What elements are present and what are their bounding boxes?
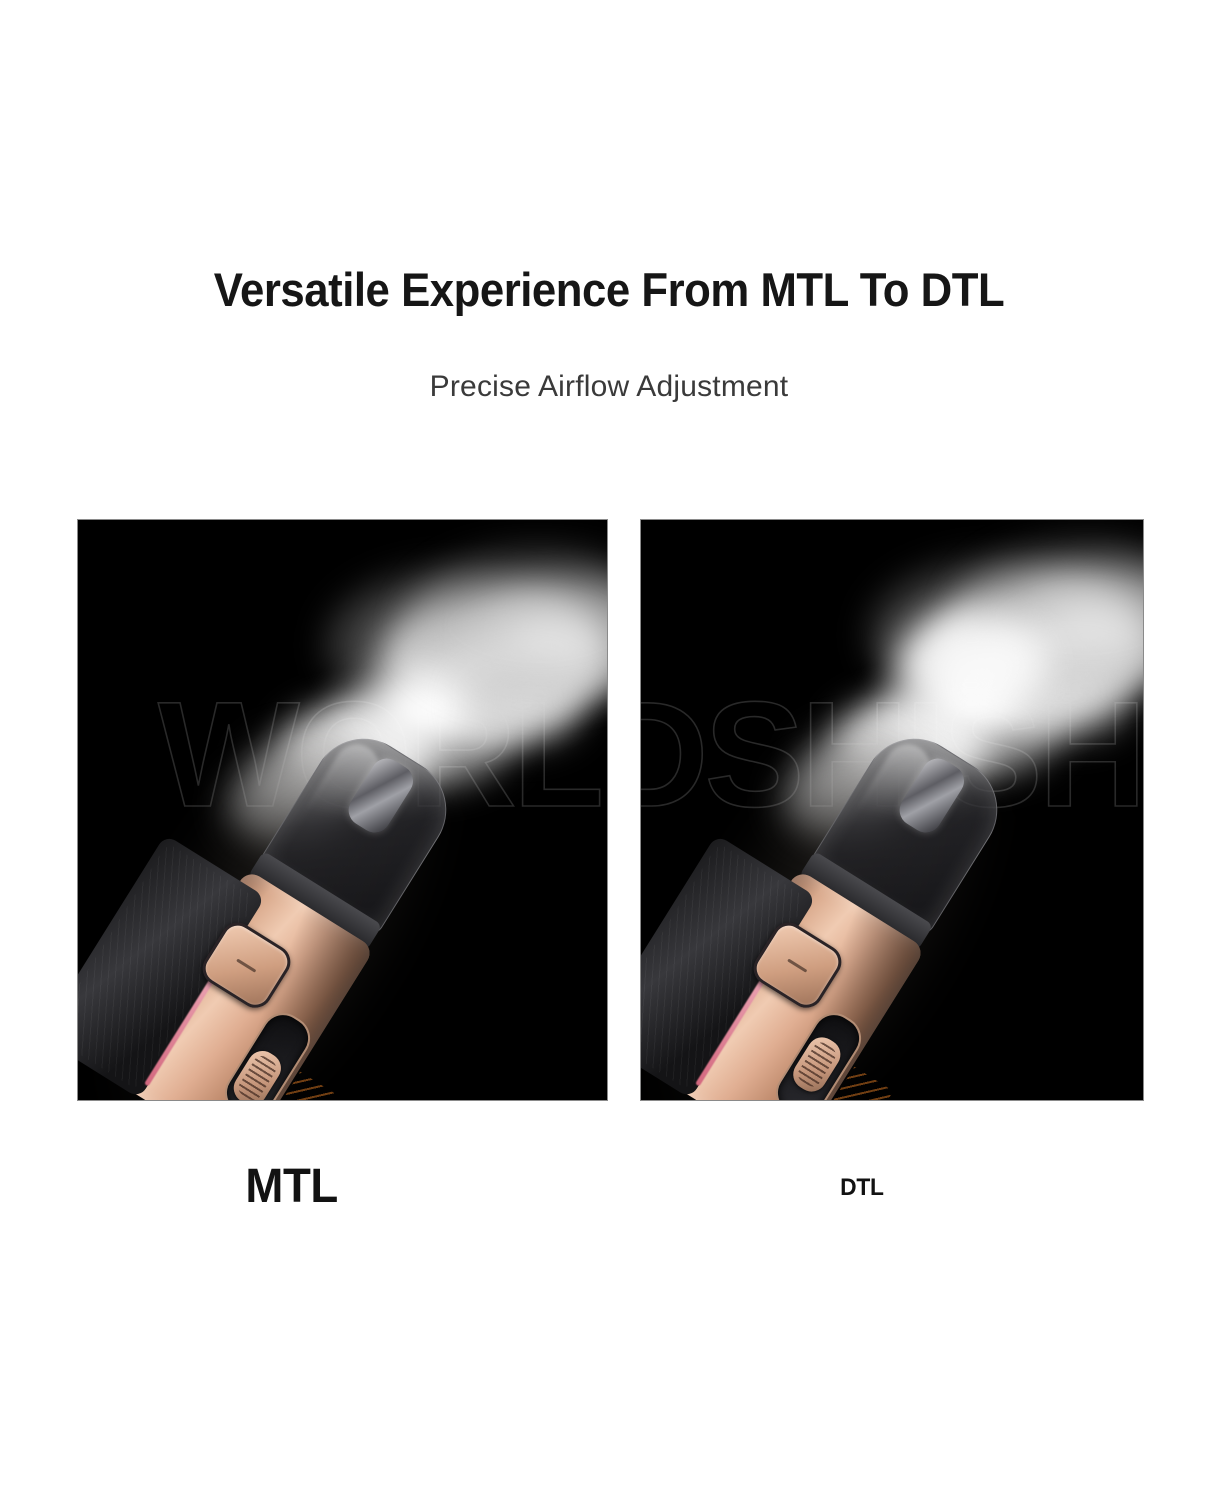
caption-mtl: MTL [245, 1159, 337, 1214]
page-subtitle: Precise Airflow Adjustment [0, 370, 1218, 404]
page-title: Versatile Experience From MTL To DTL [43, 262, 1176, 317]
vape-device-dtl [641, 691, 1143, 1100]
product-image-mtl: WORLDSHISHAS [78, 520, 607, 1100]
mtl-scene: WORLDSHISHAS [78, 520, 607, 1100]
caption-dtl: DTL [840, 1174, 883, 1202]
product-image-dtl: WORLDSHISHAS [641, 520, 1143, 1100]
dtl-scene: WORLDSHISHAS [641, 520, 1143, 1100]
vape-device-mtl [78, 691, 597, 1100]
